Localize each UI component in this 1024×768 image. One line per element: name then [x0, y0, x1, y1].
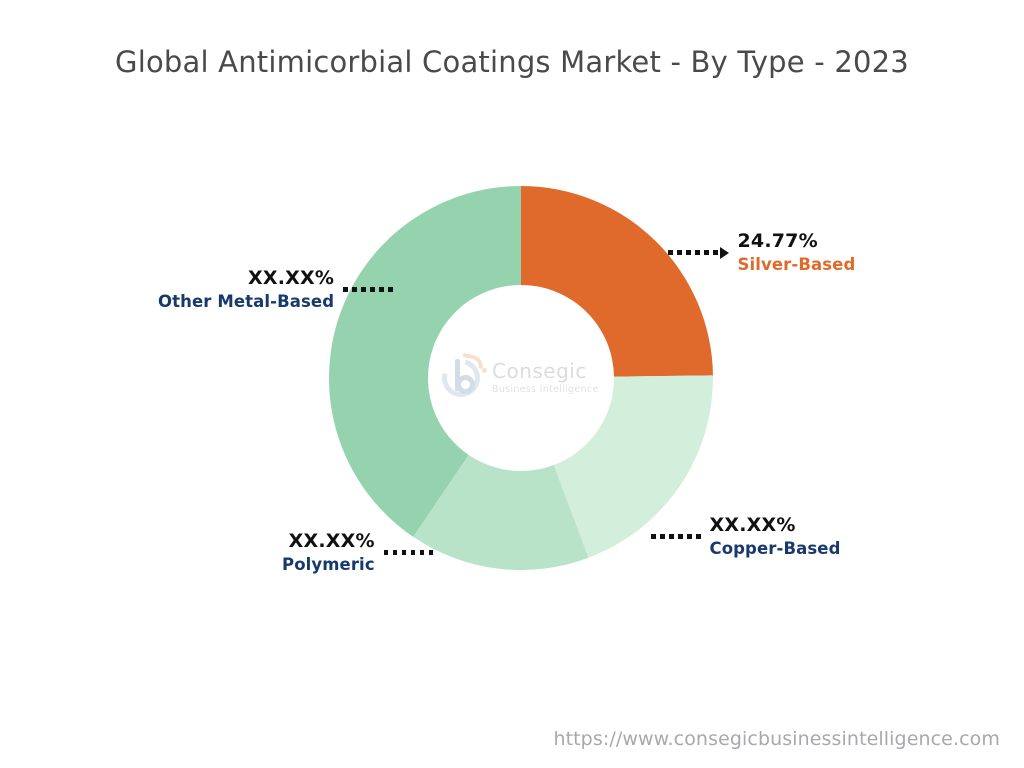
donut-svg [329, 186, 713, 570]
leader-dots-icon [668, 250, 718, 255]
leader-line-polymeric [384, 531, 434, 575]
donut-chart [329, 186, 713, 570]
callout-text-copper-based: XX.XX% Copper-Based [710, 514, 841, 559]
leader-line-copper-based [651, 515, 701, 559]
source-url: https://www.consegicbusinessintelligence… [553, 728, 1000, 750]
leader-dots-icon [651, 534, 701, 539]
callout-silver-based: 24.77% Silver-Based [668, 230, 855, 275]
arrow-right-icon [720, 247, 729, 259]
page-title: Global Antimicorbial Coatings Market - B… [0, 45, 1024, 79]
callout-text-silver-based: 24.77% Silver-Based [738, 230, 856, 275]
leader-dots-icon [384, 550, 434, 555]
leader-dots-icon [343, 287, 393, 292]
callout-other-metal-based: XX.XX% Other Metal-Based [158, 267, 393, 312]
callout-text-polymeric: XX.XX% Polymeric [282, 530, 375, 575]
callout-polymeric: XX.XX% Polymeric [282, 530, 433, 575]
callout-copper-based: XX.XX% Copper-Based [651, 514, 840, 559]
slice-label-polymeric: Polymeric [282, 554, 375, 575]
slice-label-copper-based: Copper-Based [710, 538, 841, 559]
slice-value-silver-based: 24.77% [738, 230, 818, 254]
slice-value-copper-based: XX.XX% [710, 514, 796, 538]
leader-line-other-metal-based [343, 268, 393, 312]
leader-line-silver-based [668, 231, 729, 275]
slice-label-other-metal-based: Other Metal-Based [158, 291, 334, 312]
slice-value-polymeric: XX.XX% [289, 530, 375, 554]
slice-label-silver-based: Silver-Based [738, 254, 856, 275]
callout-text-other-metal-based: XX.XX% Other Metal-Based [158, 267, 334, 312]
donut-hole [428, 285, 614, 471]
slice-value-other-metal-based: XX.XX% [248, 267, 334, 291]
